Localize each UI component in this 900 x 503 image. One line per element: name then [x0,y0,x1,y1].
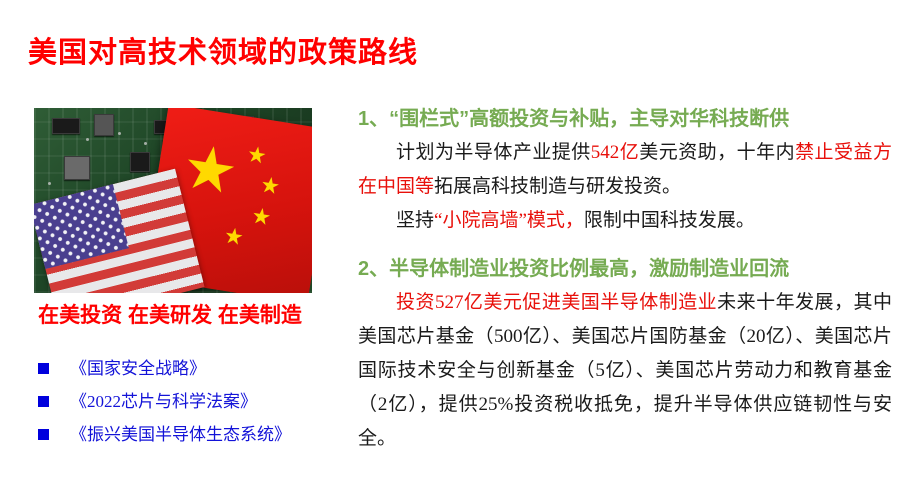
china-flag-star: ★ [181,142,238,199]
china-flag-star: ★ [260,176,281,197]
text-run: 坚持 [396,210,434,231]
square-bullet-icon [38,429,49,440]
pcb-chip [94,114,114,136]
photo-caption: 在美投资 在美研发 在美制造 [0,303,340,329]
pcb-solder-dot [144,142,147,145]
slide-root: 美国对高技术领域的政策路线 ★ ★ [0,0,900,503]
text-run: 投资527亿美元促进美国半导体制造业 [396,292,717,313]
pcb-chip [52,118,80,134]
square-bullet-icon [38,396,49,407]
pcb-solder-dot [48,182,51,185]
page-title: 美国对高技术领域的政策路线 [28,36,418,70]
list-item-label: 《2022芯片与科学法案》 [70,391,257,413]
list-item: 《2022芯片与科学法案》 [30,385,340,418]
section-1-paragraph-1: 计划为半导体产业提供542亿美元资助，十年内禁止受益方在中国等拓展高科技制造与研… [358,136,892,204]
section-1-paragraph-2: 坚持“小院高墙”模式，限制中国科技发展。 [358,204,892,238]
section-2-paragraph-1: 投资527亿美元促进美国半导体制造业未来十年发展，其中美国芯片基金（500亿）、… [358,286,892,456]
china-flag-star: ★ [251,207,272,228]
china-flag-star: ★ [247,145,268,166]
text-run: 美元资助，十年内 [639,142,795,163]
section-heading-2: 2、半导体制造业投资比例最高，激励制造业回流 [358,254,892,284]
text-run: 拓展高科技制造与研发投资。 [434,176,681,197]
list-item: 《振兴美国半导体生态系统》 [30,418,340,451]
text-run: 计划为半导体产业提供 [396,142,591,163]
list-item-label: 《国家安全战略》 [70,358,206,380]
text-run: 542亿 [591,142,639,163]
policy-document-list: 《国家安全战略》 《2022芯片与科学法案》 《振兴美国半导体生态系统》 [30,352,340,451]
section-heading-1: 1、“围栏式”高额投资与补贴，主导对华科技断供 [358,104,892,134]
pcb-solder-dot [118,132,121,135]
text-run: “小院高墙”模式， [434,210,584,231]
pcb-solder-dot [86,138,89,141]
text-run: 限制中国科技发展。 [584,210,755,231]
right-column: 1、“围栏式”高额投资与补贴，主导对华科技断供 计划为半导体产业提供542亿美元… [358,104,892,456]
list-item-label: 《振兴美国半导体生态系统》 [70,424,291,446]
us-china-flags-on-circuit-board-image: ★ ★ ★ ★ ★ [34,108,312,293]
text-run: 未来十年发展，其中美国芯片基金（500亿）、美国芯片国防基金（20亿）、美国芯片… [358,292,892,449]
pcb-chip [64,156,90,180]
pcb-chip [130,152,150,172]
list-item: 《国家安全战略》 [30,352,340,385]
square-bullet-icon [38,363,49,374]
china-flag-star: ★ [224,226,245,247]
